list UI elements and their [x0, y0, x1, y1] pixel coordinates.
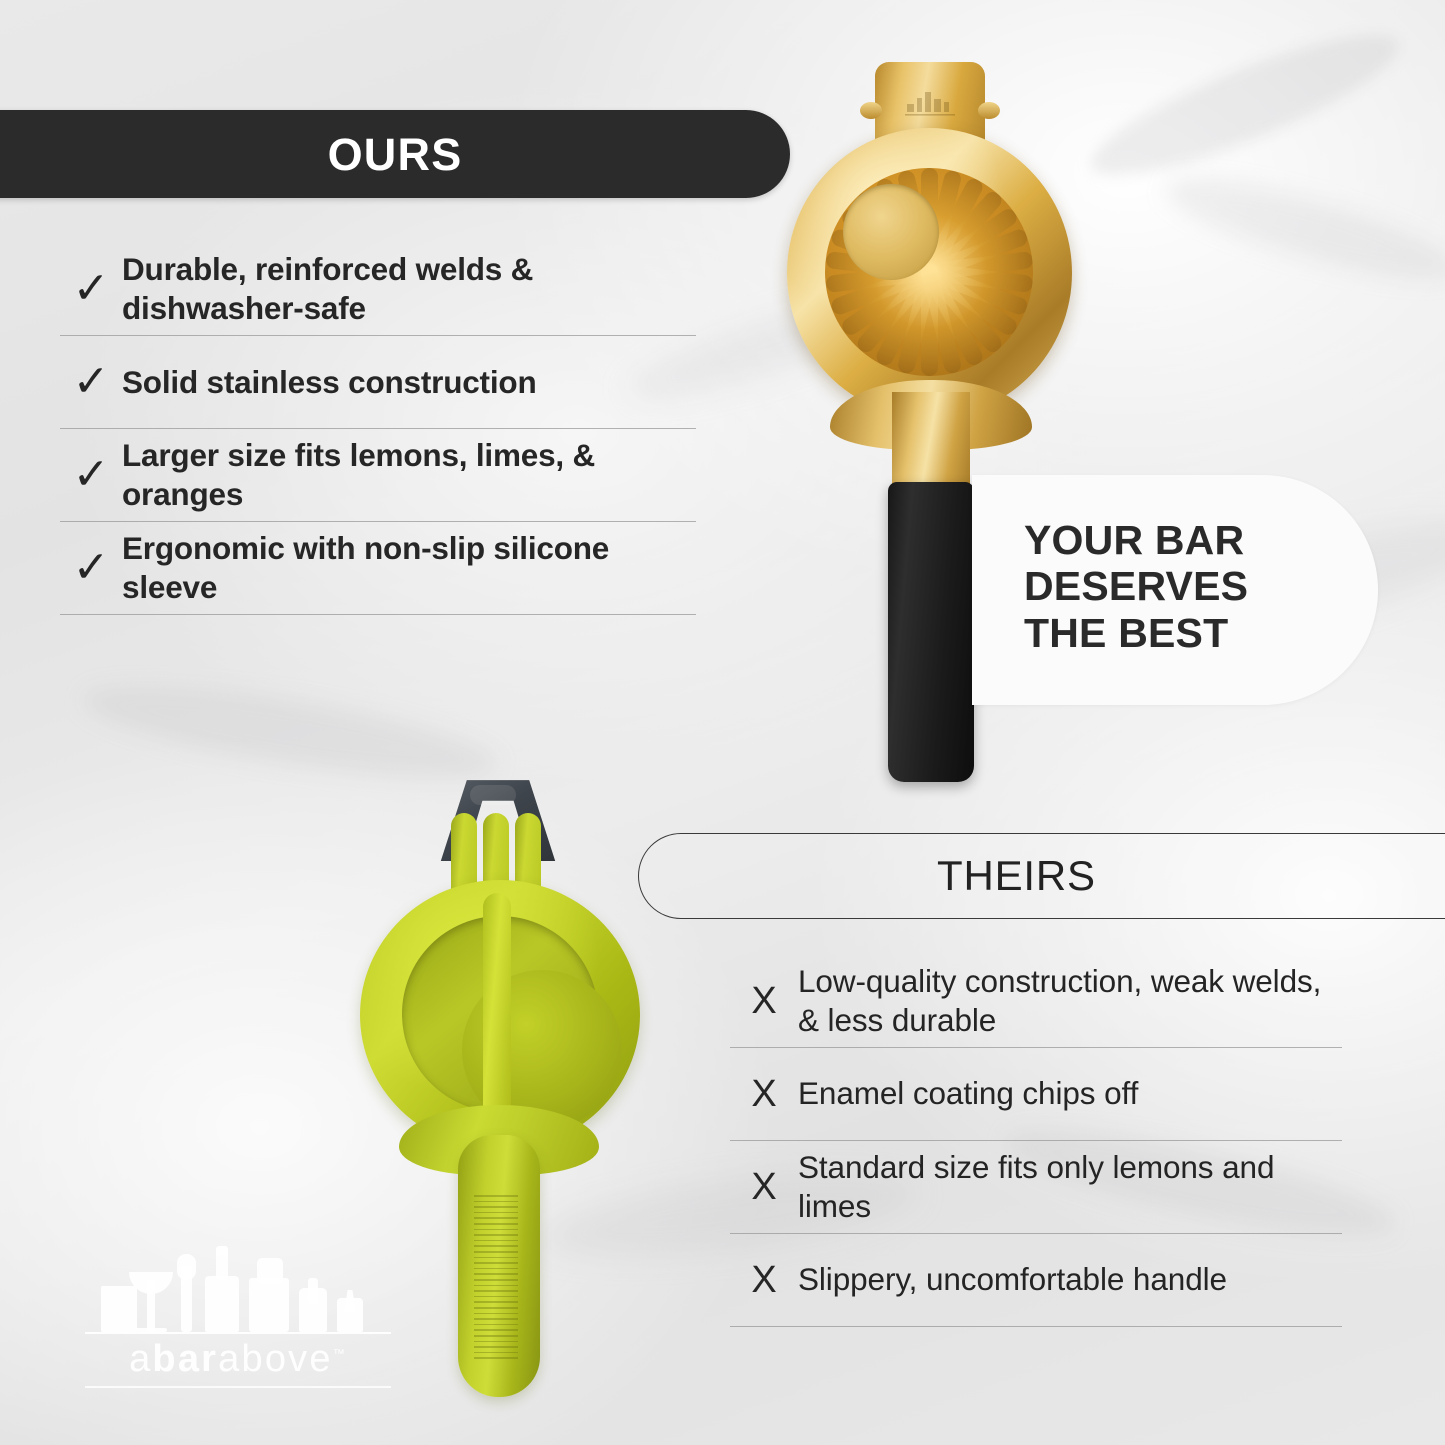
list-divider	[60, 335, 696, 336]
theirs-banner-label: THEIRS	[937, 855, 1096, 897]
grip-rib	[474, 1296, 518, 1298]
list-item-label: Enamel coating chips off	[798, 1074, 1138, 1113]
grip-rib	[474, 1352, 518, 1354]
squeezer-handle	[458, 1135, 540, 1397]
grip-rib	[474, 1301, 518, 1303]
grip-rib	[474, 1206, 518, 1208]
grip-rib	[474, 1318, 518, 1320]
cross-icon: X	[730, 1168, 798, 1206]
shaker-icon	[249, 1278, 289, 1332]
grip-rib	[474, 1346, 518, 1348]
check-icon: ✓	[60, 546, 122, 590]
brand-watermark: abarabove™	[85, 1248, 391, 1390]
wine-neck-icon	[308, 1278, 318, 1304]
rocks-glass-icon	[101, 1286, 137, 1332]
list-item-label: Solid stainless construction	[122, 363, 536, 402]
list-item-label: Ergonomic with non-slip silicone sleeve	[122, 529, 696, 606]
grip-rib	[474, 1329, 518, 1331]
grip-rib	[474, 1273, 518, 1275]
grip-rib	[474, 1251, 518, 1253]
grip-rib	[474, 1335, 518, 1337]
brand-word-above: above	[218, 1338, 333, 1380]
list-divider	[60, 428, 696, 429]
grip-rib	[474, 1268, 518, 1270]
callout-badge: YOUR BAR DESERVES THE BEST	[972, 475, 1378, 705]
ours-banner-label: OURS	[328, 132, 463, 177]
list-item-label: Standard size fits only lemons and limes	[798, 1148, 1342, 1226]
logo-bottom-rule	[85, 1386, 391, 1388]
competitor-brand-mark	[470, 785, 516, 805]
grip-rib	[474, 1245, 518, 1247]
list-divider	[60, 614, 696, 615]
list-item: X Standard size fits only lemons and lim…	[730, 1141, 1342, 1233]
bottle-neck-icon	[216, 1246, 228, 1280]
grip-rib	[474, 1195, 518, 1197]
check-icon: ✓	[60, 453, 122, 497]
cross-icon: X	[730, 1261, 798, 1299]
grip-rib	[474, 1324, 518, 1326]
squeezer-center-disc	[843, 184, 939, 280]
bottle-icon	[205, 1276, 239, 1332]
cross-icon: X	[730, 1075, 798, 1113]
trademark-symbol: ™	[333, 1346, 347, 1360]
theirs-banner: THEIRS	[638, 833, 1445, 919]
check-icon: ✓	[60, 360, 122, 404]
list-divider	[60, 521, 696, 522]
grip-rib	[474, 1285, 518, 1287]
grip-rib	[474, 1262, 518, 1264]
infographic-canvas: OURS ✓ Durable, reinforced welds & dishw…	[0, 0, 1445, 1445]
grip-rib	[474, 1341, 518, 1343]
callout-line-2: DESERVES	[1024, 563, 1248, 609]
list-item: ✓ Durable, reinforced welds & dishwasher…	[60, 243, 696, 335]
grip-rib	[474, 1234, 518, 1236]
list-item: ✓ Ergonomic with non-slip silicone sleev…	[60, 522, 696, 614]
list-item: ✓ Solid stainless construction	[60, 336, 696, 428]
green-citrus-squeezer	[355, 775, 645, 1400]
grip-rib	[474, 1290, 518, 1292]
callout-text: YOUR BAR DESERVES THE BEST	[1024, 517, 1248, 656]
hinge-pin	[978, 102, 1000, 119]
list-item: ✓ Larger size fits lemons, limes, & oran…	[60, 429, 696, 521]
theirs-drawback-list: X Low-quality construction, weak welds, …	[730, 955, 1342, 1327]
logo-top-rule	[85, 1332, 391, 1334]
check-icon: ✓	[60, 267, 122, 311]
hinge-pin	[860, 102, 882, 119]
list-item-label: Larger size fits lemons, limes, & orange…	[122, 436, 696, 513]
list-item-label: Durable, reinforced welds & dishwasher-s…	[122, 250, 696, 327]
ours-banner: OURS	[0, 110, 790, 198]
brand-word-a: a	[129, 1338, 152, 1380]
list-item: X Enamel coating chips off	[730, 1048, 1342, 1140]
grip-rib	[474, 1240, 518, 1242]
silicone-handle-sleeve	[888, 482, 974, 782]
grip-rib	[474, 1279, 518, 1281]
callout-line-3: THE BEST	[1024, 610, 1248, 656]
grip-rib	[474, 1313, 518, 1315]
squeezer-bowl	[787, 128, 1072, 418]
list-divider	[730, 1140, 1342, 1141]
grip-rib	[474, 1229, 518, 1231]
list-divider	[730, 1326, 1342, 1327]
callout-line-1: YOUR BAR	[1024, 517, 1248, 563]
bar-spoon-head-icon	[177, 1254, 196, 1280]
grip-rib	[474, 1307, 518, 1309]
list-item-label: Slippery, uncomfortable handle	[798, 1260, 1227, 1299]
list-item: X Low-quality construction, weak welds, …	[730, 955, 1342, 1047]
grip-rib	[474, 1357, 518, 1359]
embossed-brand-logo	[903, 90, 959, 120]
list-item: X Slippery, uncomfortable handle	[730, 1234, 1342, 1326]
grip-rib	[474, 1201, 518, 1203]
grip-rib	[474, 1257, 518, 1259]
cross-icon: X	[730, 982, 798, 1020]
ours-feature-list: ✓ Durable, reinforced welds & dishwasher…	[60, 243, 696, 615]
grip-rib	[474, 1223, 518, 1225]
grip-rib	[474, 1217, 518, 1219]
list-divider	[730, 1233, 1342, 1234]
grip-rib	[474, 1212, 518, 1214]
brand-wordmark: abarabove™	[85, 1340, 391, 1378]
shaker-cap-icon	[257, 1258, 283, 1284]
brand-word-bar: bar	[152, 1338, 218, 1380]
list-item-label: Low-quality construction, weak welds, & …	[798, 962, 1342, 1040]
list-divider	[730, 1047, 1342, 1048]
